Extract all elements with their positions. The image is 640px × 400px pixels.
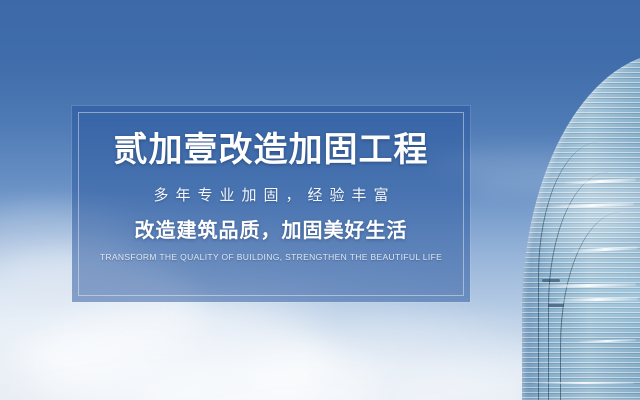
banner-subline: 多年专业加固，经验丰富 — [146, 187, 395, 205]
building-shadow-bar — [542, 279, 560, 282]
banner-english-subtitle: TRANSFORM THE QUALITY OF BUILDING, STREN… — [100, 252, 442, 262]
headline-panel: 贰加壹改造加固工程 多年专业加固，经验丰富 改造建筑品质，加固美好生活 TRAN… — [72, 106, 470, 302]
skyscraper-building — [512, 52, 640, 400]
building-shadow-bar — [548, 304, 564, 307]
banner-tagline: 改造建筑品质，加固美好生活 — [135, 219, 408, 243]
hero-banner: 贰加壹改造加固工程 多年专业加固，经验丰富 改造建筑品质，加固美好生活 TRAN… — [0, 0, 640, 400]
panel-text-group: 贰加壹改造加固工程 多年专业加固，经验丰富 改造建筑品质，加固美好生活 TRAN… — [72, 106, 470, 302]
banner-headline: 贰加壹改造加固工程 — [114, 132, 429, 169]
building-highlight-bar — [534, 382, 634, 384]
